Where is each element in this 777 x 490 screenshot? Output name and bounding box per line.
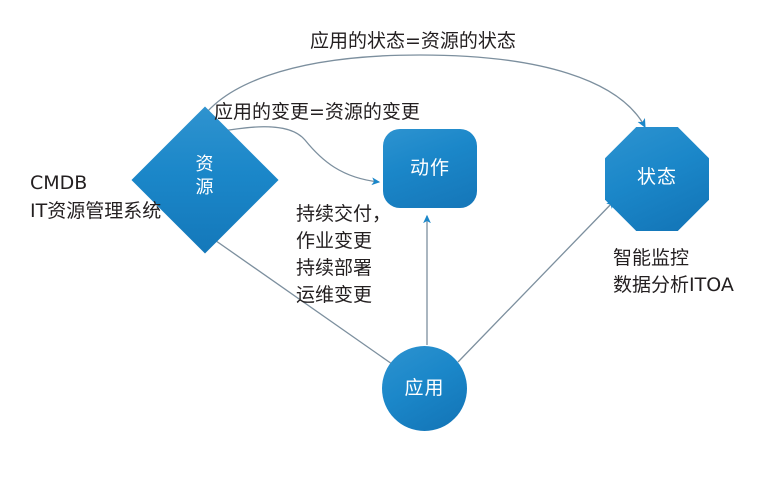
node-action-label: 动作 xyxy=(410,159,450,179)
node-resource[interactable]: 资 源 xyxy=(153,128,257,232)
node-state[interactable]: 状态 xyxy=(605,127,709,231)
octagon-shape xyxy=(605,127,709,231)
annotation-cmdb: CMDB IT资源管理系统 xyxy=(30,170,161,225)
annotation-state-equation: 应用的状态=资源的状态 xyxy=(310,29,516,54)
annotation-monitoring: 智能监控 数据分析ITOA xyxy=(613,245,734,299)
connector-app-to-state xyxy=(458,201,614,362)
node-app-label: 应用 xyxy=(404,379,444,399)
annotation-delivery: 持续交付， 作业变更 持续部署 运维变更 xyxy=(296,201,391,309)
diagram-canvas: 资 源 动作 状态 应用 应用的状态=资源的状态 应用的变更=资源的变更 CMD… xyxy=(0,0,777,490)
node-action[interactable]: 动作 xyxy=(383,129,477,208)
annotation-change-equation: 应用的变更=资源的变更 xyxy=(214,100,420,125)
node-app[interactable]: 应用 xyxy=(382,346,467,431)
